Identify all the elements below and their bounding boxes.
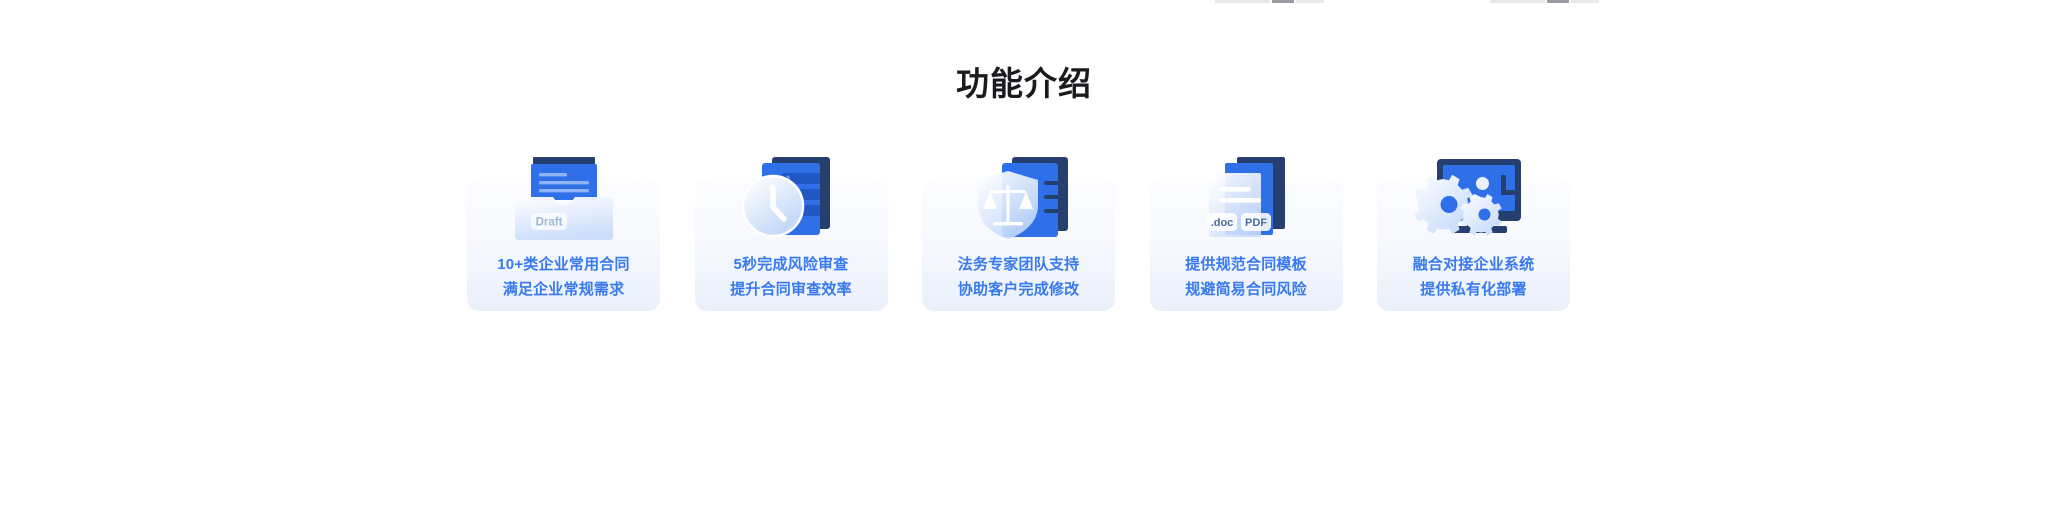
feature-card-line2: 协助客户完成修改 bbox=[922, 277, 1115, 302]
pdf-format-badge-label: PDF bbox=[1245, 217, 1267, 229]
feature-card-line2: 提供私有化部署 bbox=[1377, 277, 1570, 302]
feature-card[interactable]: .doc PDF 提供规范合同模板 规避简易合同风险 bbox=[1150, 178, 1343, 311]
shield-scales-legal-icon bbox=[922, 143, 1115, 243]
feature-card-text: 10+类企业常用合同 满足企业常规需求 bbox=[467, 252, 660, 302]
feature-card-line2: 满足企业常规需求 bbox=[467, 277, 660, 302]
feature-card-line1: 法务专家团队支持 bbox=[958, 256, 1080, 273]
previous-section-sliver bbox=[0, 0, 2048, 3]
feature-card[interactable]: 1 2 4 5秒完成风险审查 提升合同审查效率 bbox=[695, 178, 888, 311]
feature-section-page: 功能介绍 bbox=[0, 0, 2048, 512]
feature-card-line1: 提供规范合同模板 bbox=[1185, 256, 1307, 273]
feature-card-text: 提供规范合同模板 规避简易合同风险 bbox=[1150, 252, 1343, 302]
document-stack-formats-icon: .doc PDF bbox=[1150, 143, 1343, 243]
feature-card-line2: 提升合同审查效率 bbox=[695, 277, 888, 302]
feature-card-text: 法务专家团队支持 协助客户完成修改 bbox=[922, 252, 1115, 302]
page-title: 功能介绍 bbox=[0, 62, 2048, 106]
feature-card[interactable]: 融合对接企业系统 提供私有化部署 bbox=[1377, 178, 1570, 311]
draft-contract-envelope-icon: Draft bbox=[467, 143, 660, 243]
draft-badge-label: Draft bbox=[535, 217, 562, 229]
feature-card-line2: 规避简易合同风险 bbox=[1150, 277, 1343, 302]
feature-card-text: 融合对接企业系统 提供私有化部署 bbox=[1377, 252, 1570, 302]
feature-card-list: Draft 10+类企业常用合同 满足企业常规需求 bbox=[467, 178, 1570, 308]
monitor-gears-integration-icon bbox=[1377, 143, 1570, 243]
feature-card-line1: 10+类企业常用合同 bbox=[497, 256, 629, 273]
clock-document-review-icon: 1 2 4 bbox=[695, 143, 888, 243]
doc-format-badge-label: .doc bbox=[1211, 217, 1234, 229]
feature-card-line1: 5秒完成风险审查 bbox=[734, 256, 849, 273]
feature-card-line1: 融合对接企业系统 bbox=[1413, 256, 1535, 273]
feature-card-text: 5秒完成风险审查 提升合同审查效率 bbox=[695, 252, 888, 302]
feature-card[interactable]: 法务专家团队支持 协助客户完成修改 bbox=[922, 178, 1115, 311]
feature-card[interactable]: Draft 10+类企业常用合同 满足企业常规需求 bbox=[467, 178, 660, 311]
